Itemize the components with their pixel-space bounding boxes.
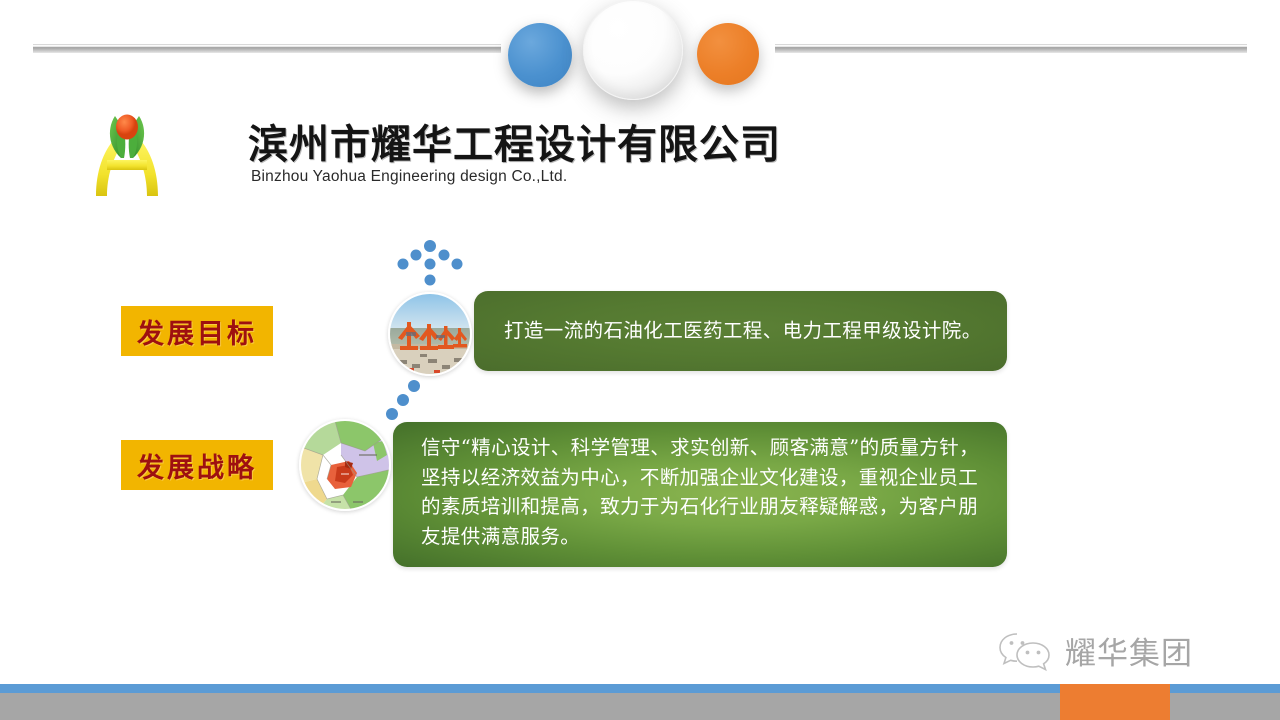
slide-canvas: 滨州市耀华工程设计有限公司 Binzhou Yaohua Engineering…: [0, 0, 1280, 720]
company-name-cn: 滨州市耀华工程设计有限公司: [248, 112, 781, 170]
content-text-development-strategy: 信守“精心设计、科学管理、求实创新、顾客满意”的质量方针，坚持以经济效益为中心，…: [421, 436, 979, 548]
port-photo-image: [390, 294, 472, 376]
wechat-icon: [997, 629, 1055, 673]
dot-arrow-decoration: [396, 240, 464, 292]
wechat-badge: 耀华集团: [997, 628, 1193, 673]
content-text-development-goal: 打造一流的石油化工医药工程、电力工程甲级设计院。: [504, 316, 982, 346]
port-photo-circle: [388, 292, 472, 376]
header-rule-left: [33, 44, 501, 53]
content-panel-development-goal: 打造一流的石油化工医药工程、电力工程甲级设计院。: [474, 291, 1007, 371]
company-logo-block: 滨州市耀华工程设计有限公司 Binzhou Yaohua Engineering…: [88, 104, 648, 200]
dot-connector-decoration: [382, 378, 426, 424]
header-rule-right: [775, 44, 1247, 53]
white-circle-decoration: [583, 0, 683, 100]
company-name-en: Binzhou Yaohua Engineering design Co.,Lt…: [251, 168, 567, 186]
content-panel-development-strategy: 信守“精心设计、科学管理、求实创新、顾客满意”的质量方针，坚持以经济效益为中心，…: [393, 422, 1007, 567]
orange-circle-decoration: [697, 23, 759, 85]
blue-circle-decoration: [508, 23, 572, 87]
region-map-circle: [299, 419, 391, 511]
wechat-label: 耀华集团: [1065, 628, 1193, 673]
region-map-image: [301, 421, 391, 511]
footer-orange-block: [1060, 684, 1170, 720]
label-chip-development-goal: 发展目标: [121, 306, 273, 356]
label-chip-development-strategy: 发展战略: [121, 440, 273, 490]
company-logo-icon: [88, 104, 166, 198]
